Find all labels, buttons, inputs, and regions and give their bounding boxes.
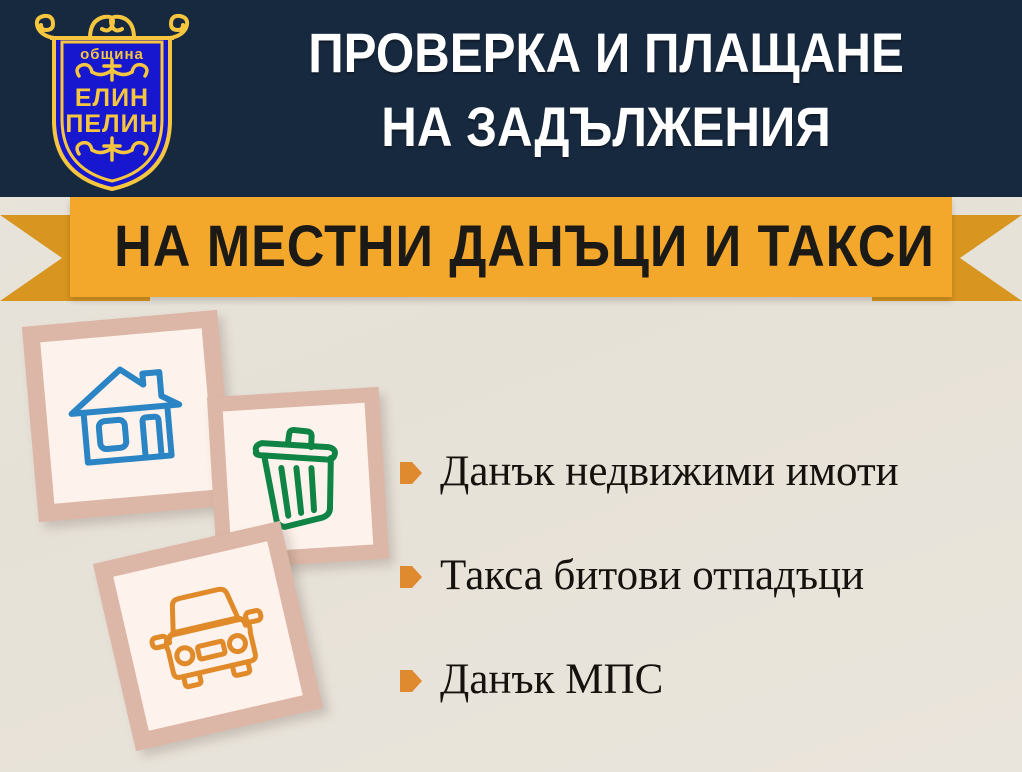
list-item[interactable]: Данък МПС: [400, 628, 1010, 732]
house-icon: [63, 356, 192, 476]
arrow-bullet-icon: [400, 668, 422, 694]
stamp-card-property: [22, 310, 234, 522]
trash-bin-icon: [245, 420, 352, 536]
stamp-paper: [40, 328, 216, 504]
list-item[interactable]: Такса битови отпадъци: [400, 524, 1010, 628]
list-item[interactable]: Данък недвижими имоти: [400, 420, 1010, 524]
arrow-bullet-icon: [400, 564, 422, 590]
page-title: ПРОВЕРКА И ПЛАЩАНЕ НА ЗАДЪЛЖЕНИЯ: [249, 16, 964, 164]
page-title-line-2: НА ЗАДЪЛЖЕНИЯ: [249, 90, 964, 164]
arrow-bullet-icon: [400, 460, 422, 486]
crest-icon: [24, 8, 200, 192]
subtitle-ribbon: НА МЕСТНИ ДАНЪЦИ И ТАКСИ: [0, 197, 1022, 307]
list-item-label: Данък недвижими имоти: [440, 449, 899, 494]
car-front-icon: [139, 574, 276, 698]
list-item-label: Данък МПС: [440, 657, 663, 702]
ribbon-label: НА МЕСТНИ ДАНЪЦИ И ТАКСИ: [114, 197, 908, 297]
poster-root: община ЕЛИН ПЕЛИН ПРОВЕРКА И ПЛАЩАНЕ НА …: [0, 0, 1022, 772]
coat-of-arms: община ЕЛИН ПЕЛИН: [24, 8, 200, 192]
list-item-label: Такса битови отпадъци: [440, 553, 864, 598]
page-title-line-1: ПРОВЕРКА И ПЛАЩАНЕ: [249, 16, 964, 90]
service-list: Данък недвижими имоти Такса битови отпад…: [400, 420, 1010, 732]
header-bar: община ЕЛИН ПЕЛИН ПРОВЕРКА И ПЛАЩАНЕ НА …: [0, 0, 1022, 197]
